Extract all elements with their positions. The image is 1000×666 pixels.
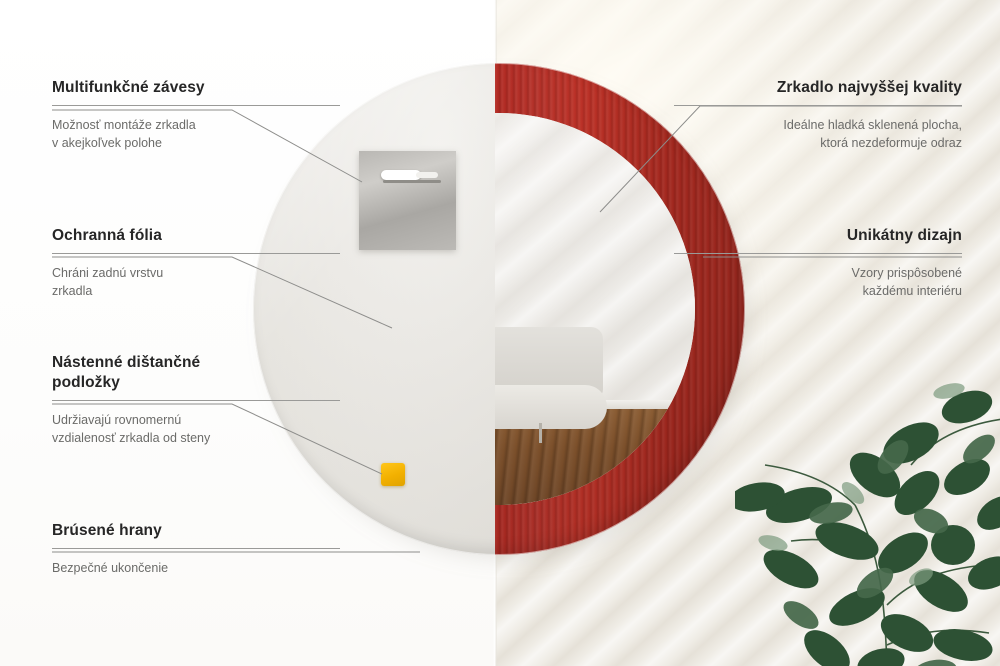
callout-title: Brúsené hrany — [52, 521, 340, 541]
callout-title: Ochranná fólia — [52, 226, 340, 246]
callout-description: Chráni zadnú vrstvu zrkadla — [52, 264, 340, 300]
callout-unikatny-dizajn: Unikátny dizajn Vzory prispôsobené každé… — [674, 226, 962, 300]
hanger-slot-bar — [383, 180, 441, 183]
callout-rule — [52, 548, 340, 549]
callout-rule — [674, 105, 962, 106]
callout-title: Unikátny dizajn — [674, 226, 962, 246]
callout-brusene-hrany: Brúsené hrany Bezpečné ukončenie — [52, 521, 340, 577]
spacer-pad — [381, 463, 405, 486]
callout-description: Vzory prispôsobené každému interiéru — [674, 264, 962, 300]
callout-rule — [52, 105, 340, 106]
callout-zrkadlo-najvyssej-kvality: Zrkadlo najvyššej kvality Ideálne hladká… — [674, 78, 962, 152]
hanger-bracket — [359, 151, 456, 250]
callout-title: Nástenné dištančné podložky — [52, 353, 340, 393]
hanger-keyhole-slot-secondary — [416, 172, 438, 178]
infographic-canvas: Multifunkčné závesy Možnosť montáže zrka… — [0, 0, 1000, 666]
hanger-keyhole-slot — [381, 170, 421, 180]
callout-description: Ideálne hladká sklenená plocha, ktorá ne… — [674, 116, 962, 152]
callout-description: Možnosť montáže zrkadla v akejkoľvek pol… — [52, 116, 340, 152]
callout-rule — [674, 253, 962, 254]
callout-nastenne-distancne-podlozky: Nástenné dištančné podložky Udržiavajú r… — [52, 353, 340, 447]
leaves-icon — [735, 345, 1000, 666]
foliage-decoration — [735, 345, 1000, 666]
mirror-glass — [495, 113, 695, 505]
callout-rule — [52, 400, 340, 401]
callout-title: Multifunkčné závesy — [52, 78, 340, 98]
callout-title: Zrkadlo najvyššej kvality — [674, 78, 962, 98]
callout-ochranna-folia: Ochranná fólia Chráni zadnú vrstvu zrkad… — [52, 226, 340, 300]
callout-description: Udržiavajú rovnomernú vzdialenosť zrkadl… — [52, 411, 340, 447]
callout-rule — [52, 253, 340, 254]
callout-multifunkcne-zavesy: Multifunkčné závesy Možnosť montáže zrka… — [52, 78, 340, 152]
callout-description: Bezpečné ukončenie — [52, 559, 340, 577]
